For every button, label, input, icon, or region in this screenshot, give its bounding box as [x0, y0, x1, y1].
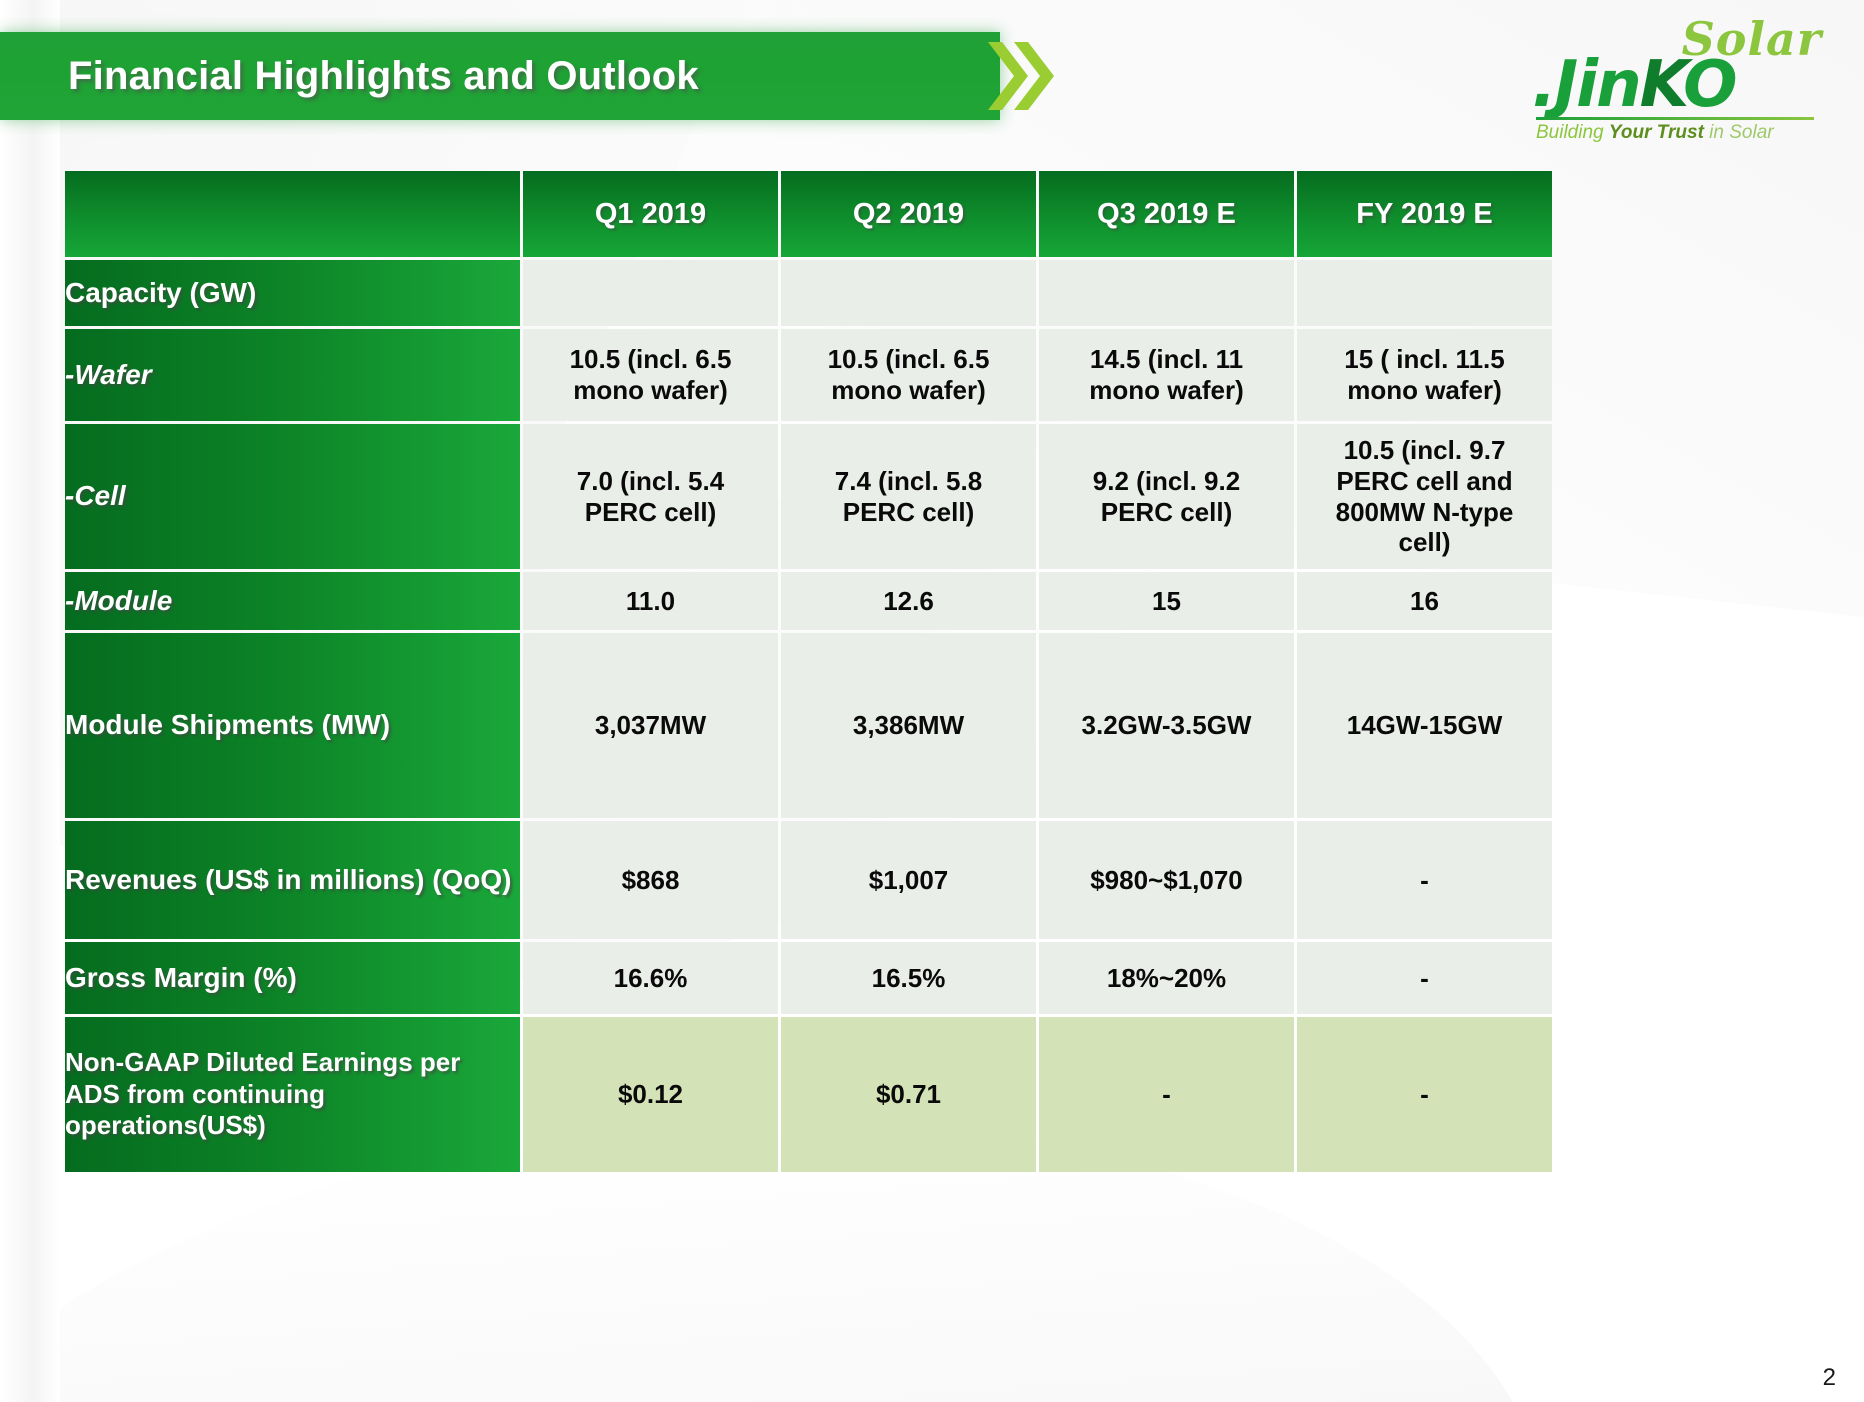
row-label-cell: -Cell [65, 424, 520, 569]
page-title: Financial Highlights and Outlook [68, 54, 699, 99]
logo-wordmark-o: O [1683, 48, 1735, 122]
cell-module-q1: 11.0 [523, 572, 778, 630]
table-row: -Wafer 10.5 (incl. 6.5 mono wafer) 10.5 … [65, 329, 1552, 421]
cell-wafer-q3e: 14.5 (incl. 11 mono wafer) [1039, 329, 1294, 421]
logo-wordmark: .JinKO [1532, 48, 1736, 122]
row-label-revenues: Revenues (US$ in millions) (QoQ) [65, 821, 520, 939]
table-row: Non-GAAP Diluted Earnings per ADS from c… [65, 1017, 1552, 1172]
cell-line: PERC cell and [1297, 466, 1552, 497]
cell-gross-margin-q1: 16.6% [523, 942, 778, 1014]
logo-wordmark-k: K [1640, 48, 1684, 122]
cell-line: 10.5 (incl. 9.7 [1297, 435, 1552, 466]
cell-revenues-q1: $868 [523, 821, 778, 939]
background-edge-stripe [0, 0, 60, 1402]
cell-shipments-q2: 3,386MW [781, 633, 1036, 818]
cell-line: 7.0 (incl. 5.4 [523, 466, 778, 497]
cell-revenues-q3e: $980~$1,070 [1039, 821, 1294, 939]
cell-module-q3e: 15 [1039, 572, 1294, 630]
cell-revenues-q2: $1,007 [781, 821, 1036, 939]
cell-line: 14.5 (incl. 11 [1039, 344, 1294, 375]
cell-cell-fye: 10.5 (incl. 9.7 PERC cell and 800MW N-ty… [1297, 424, 1552, 569]
column-header-q2: Q2 2019 [781, 171, 1036, 257]
cell-line: mono wafer) [781, 375, 1036, 406]
cell-capacity-fye [1297, 260, 1552, 326]
row-label-wafer: -Wafer [65, 329, 520, 421]
table-corner-cell [65, 171, 520, 257]
cell-wafer-q2: 10.5 (incl. 6.5 mono wafer) [781, 329, 1036, 421]
cell-line: PERC cell) [523, 497, 778, 528]
cell-gross-margin-q3e: 18%~20% [1039, 942, 1294, 1014]
page-number: 2 [1823, 1364, 1836, 1392]
column-header-q1: Q1 2019 [523, 171, 778, 257]
row-label-module: -Module [65, 572, 520, 630]
cell-cell-q1: 7.0 (incl. 5.4 PERC cell) [523, 424, 778, 569]
cell-capacity-q3e [1039, 260, 1294, 326]
cell-line: 10.5 (incl. 6.5 [781, 344, 1036, 375]
row-label-module-shipments: Module Shipments (MW) [65, 633, 520, 818]
cell-capacity-q2 [781, 260, 1036, 326]
financial-highlights-table: Q1 2019 Q2 2019 Q3 2019 E FY 2019 E Capa… [62, 168, 1555, 1175]
logo-tagline-part2: Your Trust [1609, 122, 1704, 143]
table-header-row: Q1 2019 Q2 2019 Q3 2019 E FY 2019 E [65, 171, 1552, 257]
title-banner: Financial Highlights and Outlook [0, 32, 1000, 120]
table-row: -Cell 7.0 (incl. 5.4 PERC cell) 7.4 (inc… [65, 424, 1552, 569]
row-label-gross-margin: Gross Margin (%) [65, 942, 520, 1014]
cell-line: mono wafer) [1039, 375, 1294, 406]
cell-line: 15 ( incl. 11.5 [1297, 344, 1552, 375]
row-label-non-gaap-eps: Non-GAAP Diluted Earnings per ADS from c… [65, 1017, 520, 1172]
table-row: Revenues (US$ in millions) (QoQ) $868 $1… [65, 821, 1552, 939]
cell-non-gaap-q1: $0.12 [523, 1017, 778, 1172]
row-label-capacity: Capacity (GW) [65, 260, 520, 326]
column-header-q3e: Q3 2019 E [1039, 171, 1294, 257]
cell-non-gaap-q2: $0.71 [781, 1017, 1036, 1172]
cell-line: mono wafer) [1297, 375, 1552, 406]
chevron-arrows-decoration [988, 32, 1068, 120]
cell-line: 9.2 (incl. 9.2 [1039, 466, 1294, 497]
cell-revenues-fye: - [1297, 821, 1552, 939]
cell-wafer-fye: 15 ( incl. 11.5 mono wafer) [1297, 329, 1552, 421]
cell-line: 800MW N-type [1297, 497, 1552, 528]
cell-module-q2: 12.6 [781, 572, 1036, 630]
cell-line: 10.5 (incl. 6.5 [523, 344, 778, 375]
cell-line: PERC cell) [781, 497, 1036, 528]
logo-tagline: Building Your Trust in Solar [1536, 122, 1774, 144]
jinko-solar-logo: Solar .JinKO Building Your Trust in Sola… [1526, 10, 1826, 150]
cell-non-gaap-fye: - [1297, 1017, 1552, 1172]
cell-capacity-q1 [523, 260, 778, 326]
table-row: Gross Margin (%) 16.6% 16.5% 18%~20% - [65, 942, 1552, 1014]
logo-tagline-part1: Building [1536, 122, 1609, 143]
table-row: Module Shipments (MW) 3,037MW 3,386MW 3.… [65, 633, 1552, 818]
table-row: Capacity (GW) [65, 260, 1552, 326]
column-header-fye: FY 2019 E [1297, 171, 1552, 257]
cell-cell-q2: 7.4 (incl. 5.8 PERC cell) [781, 424, 1036, 569]
table-row: -Module 11.0 12.6 15 16 [65, 572, 1552, 630]
cell-non-gaap-q3e: - [1039, 1017, 1294, 1172]
cell-line: mono wafer) [523, 375, 778, 406]
cell-line: cell) [1297, 527, 1552, 558]
cell-module-fye: 16 [1297, 572, 1552, 630]
cell-gross-margin-q2: 16.5% [781, 942, 1036, 1014]
logo-tagline-part3: in Solar [1704, 122, 1774, 143]
cell-shipments-fye: 14GW-15GW [1297, 633, 1552, 818]
cell-shipments-q3e: 3.2GW-3.5GW [1039, 633, 1294, 818]
logo-underline [1536, 117, 1814, 120]
cell-shipments-q1: 3,037MW [523, 633, 778, 818]
cell-line: PERC cell) [1039, 497, 1294, 528]
cell-wafer-q1: 10.5 (incl. 6.5 mono wafer) [523, 329, 778, 421]
logo-wordmark-jin: .Jin [1532, 48, 1640, 122]
cell-cell-q3e: 9.2 (incl. 9.2 PERC cell) [1039, 424, 1294, 569]
chevron-right-icon-2 [1014, 32, 1054, 120]
cell-line: 7.4 (incl. 5.8 [781, 466, 1036, 497]
cell-gross-margin-fye: - [1297, 942, 1552, 1014]
